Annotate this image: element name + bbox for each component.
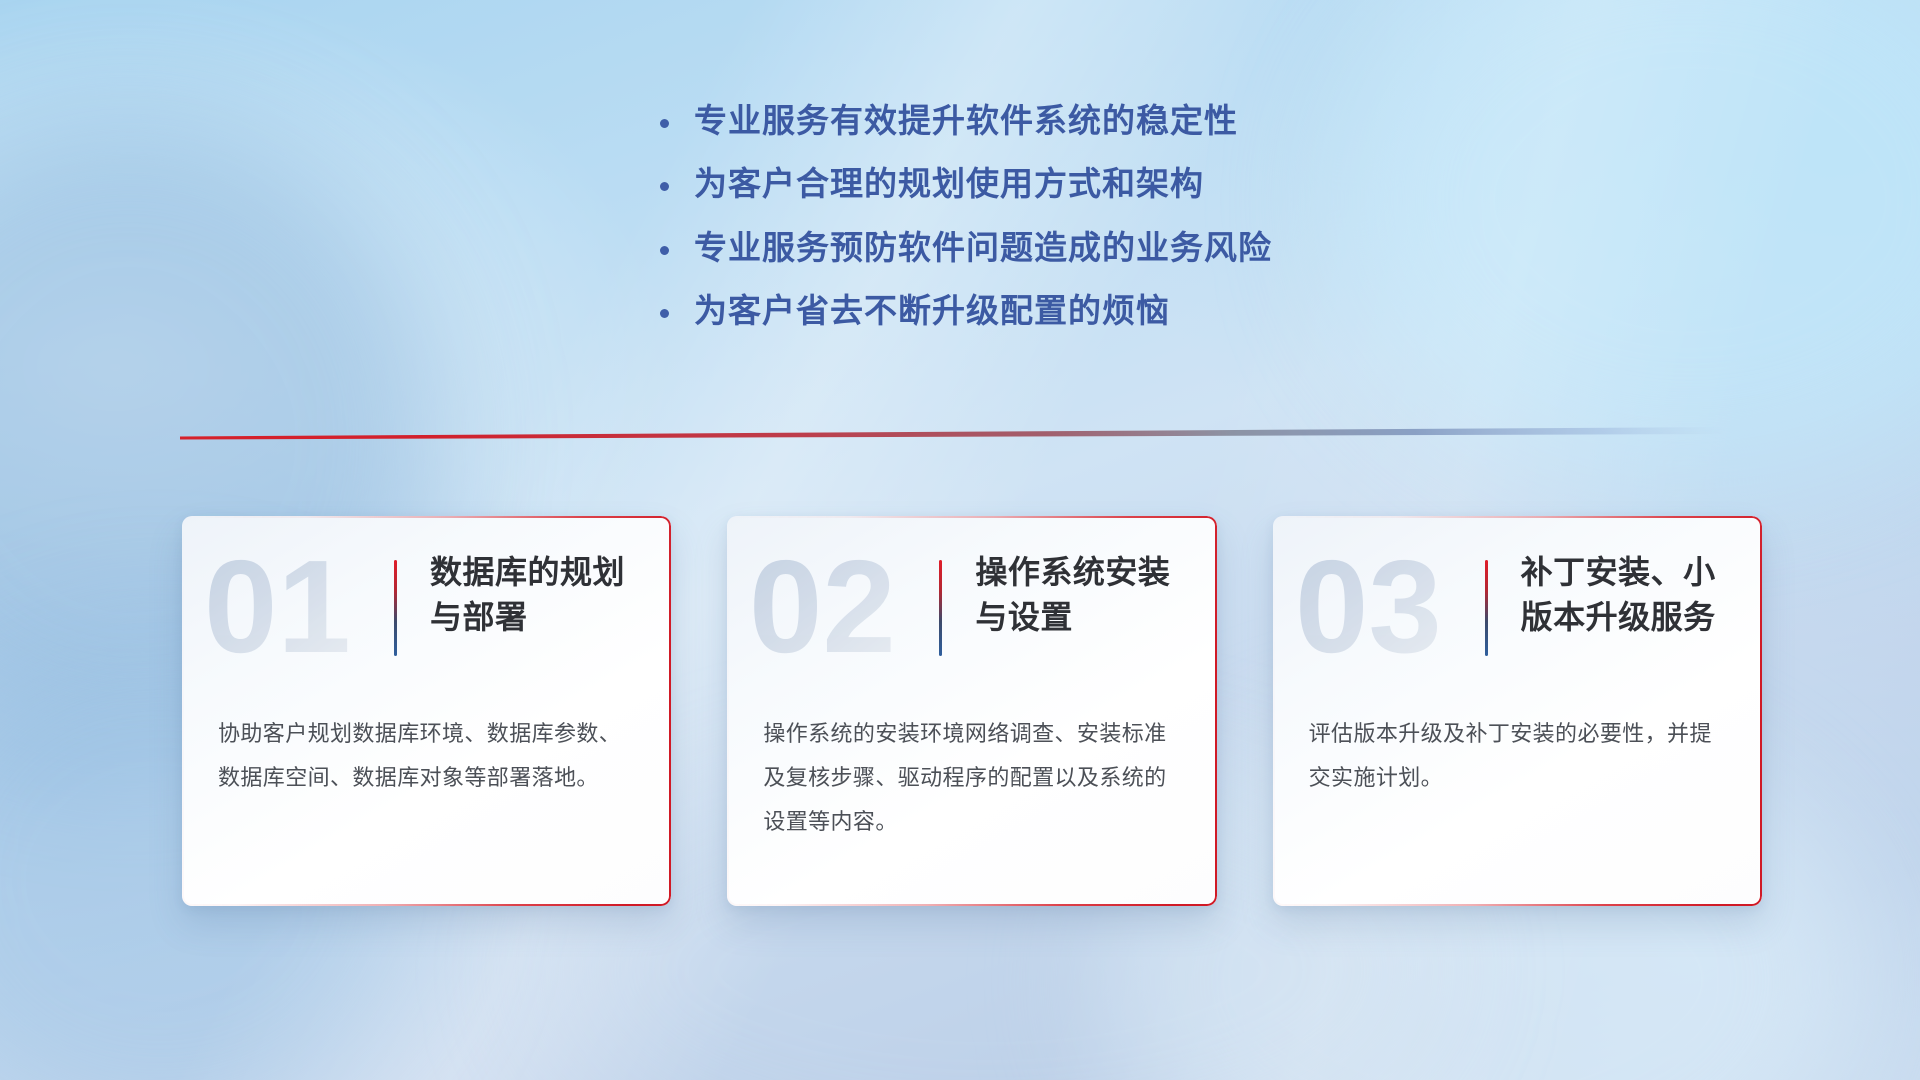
card-number-watermark: 01 xyxy=(204,544,394,674)
card-title-rule xyxy=(1485,560,1488,656)
card-description: 评估版本升级及补丁安装的必要性，并提交实施计划。 xyxy=(1309,712,1732,800)
card-number-glyph: 03 xyxy=(1295,544,1442,674)
card-title-rule xyxy=(939,560,942,656)
slide-root: 专业服务有效提升软件系统的稳定性 为客户合理的规划使用方式和架构 专业服务预防软… xyxy=(0,0,1920,1080)
card-header: 01 数据库的规划与部署 xyxy=(182,516,671,704)
card-header: 03 补丁安装、小版本升级服务 xyxy=(1273,516,1762,704)
bullet-item-text: 为客户合理的规划使用方式和架构 xyxy=(694,163,1204,204)
section-divider xyxy=(180,424,1725,446)
card-number-glyph: 02 xyxy=(749,544,896,674)
bullet-item-text: 专业服务预防软件问题造成的业务风险 xyxy=(694,227,1272,268)
bullet-dot-icon xyxy=(660,233,694,259)
bullet-item: 为客户省去不断升级配置的烦恼 xyxy=(660,290,1620,331)
bullet-item: 专业服务预防软件问题造成的业务风险 xyxy=(660,227,1620,268)
bullet-item: 专业服务有效提升软件系统的稳定性 xyxy=(660,100,1620,141)
service-card[interactable]: 02 操作系统安装与设置 操作系统的安装环境网络调查、安装标准及复核步骤、驱动程… xyxy=(727,516,1216,906)
card-title: 操作系统安装与设置 xyxy=(975,550,1200,641)
card-row: 01 数据库的规划与部署 协助客户规划数据库环境、数据库参数、数据库空间、数据库… xyxy=(182,516,1762,906)
bullet-item-text: 为客户省去不断升级配置的烦恼 xyxy=(694,290,1170,331)
card-title: 数据库的规划与部署 xyxy=(430,550,655,641)
card-number-watermark: 02 xyxy=(749,544,939,674)
card-title-rule xyxy=(394,560,397,656)
card-title: 补丁安装、小版本升级服务 xyxy=(1521,550,1746,641)
card-number-watermark: 03 xyxy=(1295,544,1485,674)
bullet-dot-icon xyxy=(660,169,694,195)
card-number-glyph: 01 xyxy=(204,544,351,674)
bullet-item: 为客户合理的规划使用方式和架构 xyxy=(660,163,1620,204)
bullet-item-text: 专业服务有效提升软件系统的稳定性 xyxy=(694,100,1238,141)
bullet-dot-icon xyxy=(660,106,694,132)
card-description: 操作系统的安装环境网络调查、安装标准及复核步骤、驱动程序的配置以及系统的设置等内… xyxy=(763,712,1186,844)
bullet-dot-icon xyxy=(660,296,694,322)
service-card[interactable]: 03 补丁安装、小版本升级服务 评估版本升级及补丁安装的必要性，并提交实施计划。 xyxy=(1273,516,1762,906)
card-description: 协助客户规划数据库环境、数据库参数、数据库空间、数据库对象等部署落地。 xyxy=(218,712,641,800)
service-card[interactable]: 01 数据库的规划与部署 协助客户规划数据库环境、数据库参数、数据库空间、数据库… xyxy=(182,516,671,906)
bullet-list: 专业服务有效提升软件系统的稳定性 为客户合理的规划使用方式和架构 专业服务预防软… xyxy=(660,100,1620,353)
card-header: 02 操作系统安装与设置 xyxy=(727,516,1216,704)
